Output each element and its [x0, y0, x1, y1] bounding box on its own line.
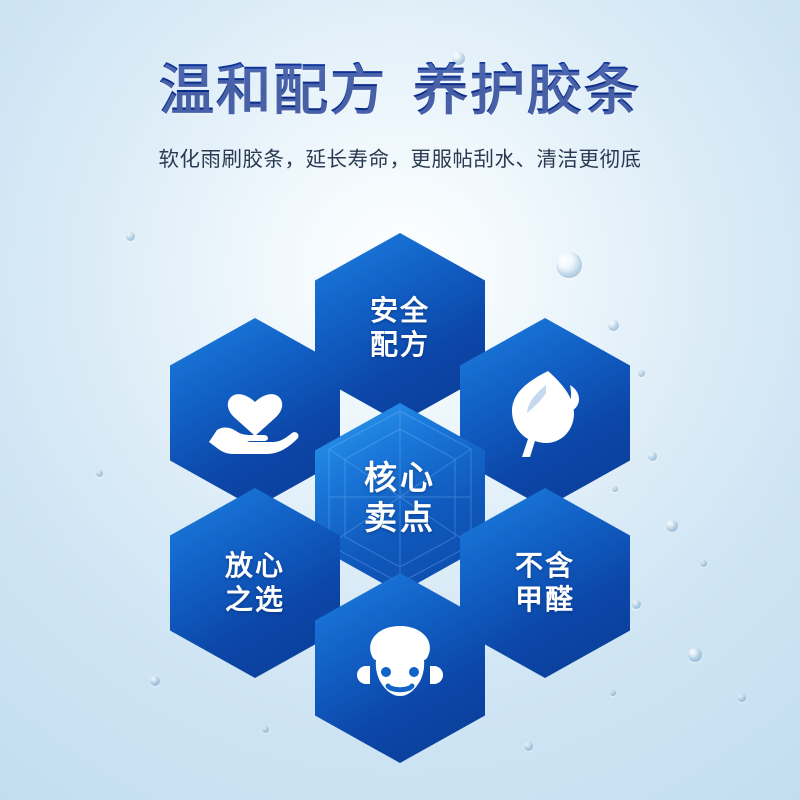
hex-cell-no-formaldehyde-line2: 甲醛: [515, 583, 575, 617]
tech-lines-decoration: [315, 403, 485, 593]
hex-cell-safe-label: 安全 配方: [370, 294, 430, 362]
leaf-icon: [502, 367, 588, 459]
hex-cell-no-formaldehyde[interactable]: 不含 甲醛: [460, 488, 630, 678]
hex-cell-core[interactable]: 核心 卖点: [315, 403, 485, 593]
hex-cell-no-formaldehyde-label: 不含 甲醛: [515, 549, 575, 617]
heart-in-hand-icon: [207, 370, 303, 456]
child-face-icon: [352, 622, 448, 714]
honeycomb-diagram: 安全 配方: [0, 0, 800, 800]
hex-cell-safe-line2: 配方: [370, 328, 430, 362]
hex-cell-heart[interactable]: [170, 318, 340, 508]
hex-cell-relief-line2: 之选: [225, 583, 285, 617]
hex-cell-relief[interactable]: 放心 之选: [170, 488, 340, 678]
hex-cell-safe[interactable]: 安全 配方: [315, 233, 485, 423]
hex-cell-leaf[interactable]: [460, 318, 630, 508]
hex-cell-relief-line1: 放心: [225, 549, 285, 583]
hex-cell-child[interactable]: [315, 573, 485, 763]
hex-cell-no-formaldehyde-line1: 不含: [515, 549, 575, 583]
hex-cell-safe-line1: 安全: [370, 294, 430, 328]
hex-cell-relief-label: 放心 之选: [225, 549, 285, 617]
